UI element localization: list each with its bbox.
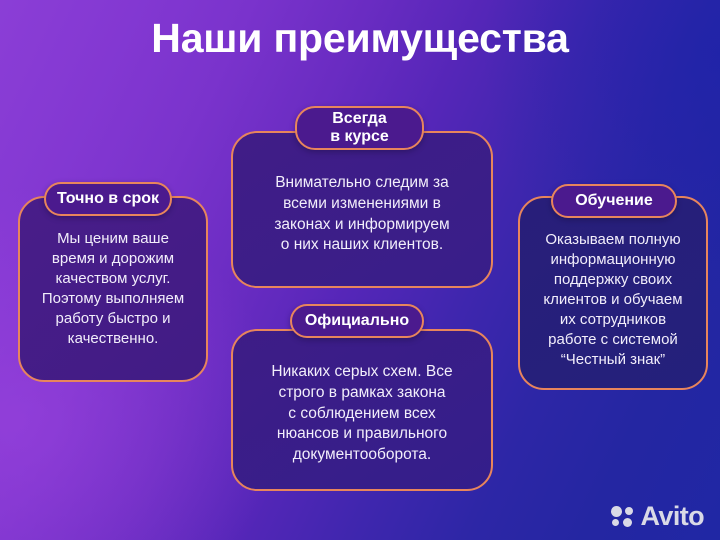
advantage-card-ontime-body: Мы ценим ваше время и дорожим качеством … [30, 229, 196, 349]
advantage-card-uptodate-body: Внимательно следим за всеми изменениями … [262, 163, 461, 255]
avito-wordmark: Avito [641, 503, 705, 530]
advantage-card-training: Оказываем полную информационную поддержк… [518, 196, 708, 390]
page-title: Наши преимущества [0, 16, 720, 60]
slide-canvas: Наши преимущества Мы ценим ваше время и … [0, 0, 720, 540]
avito-watermark: Avito [611, 503, 705, 530]
advantage-badge-training: Обучение [551, 184, 677, 218]
advantage-card-official-body: Никаких серых схем. Все строго в рамках … [259, 354, 464, 465]
advantage-badge-ontime: Точно в срок [44, 182, 172, 216]
advantage-badge-uptodate: Всегда в курсе [295, 106, 424, 150]
advantage-card-training-body: Оказываем полную информационную поддержк… [531, 216, 694, 370]
advantage-card-ontime: Мы ценим ваше время и дорожим качеством … [18, 196, 208, 382]
advantage-card-official: Никаких серых схем. Все строго в рамках … [231, 329, 493, 491]
advantage-card-uptodate: Внимательно следим за всеми изменениями … [231, 131, 493, 288]
avito-dots-icon [611, 506, 636, 527]
advantage-badge-official: Официально [290, 304, 424, 338]
